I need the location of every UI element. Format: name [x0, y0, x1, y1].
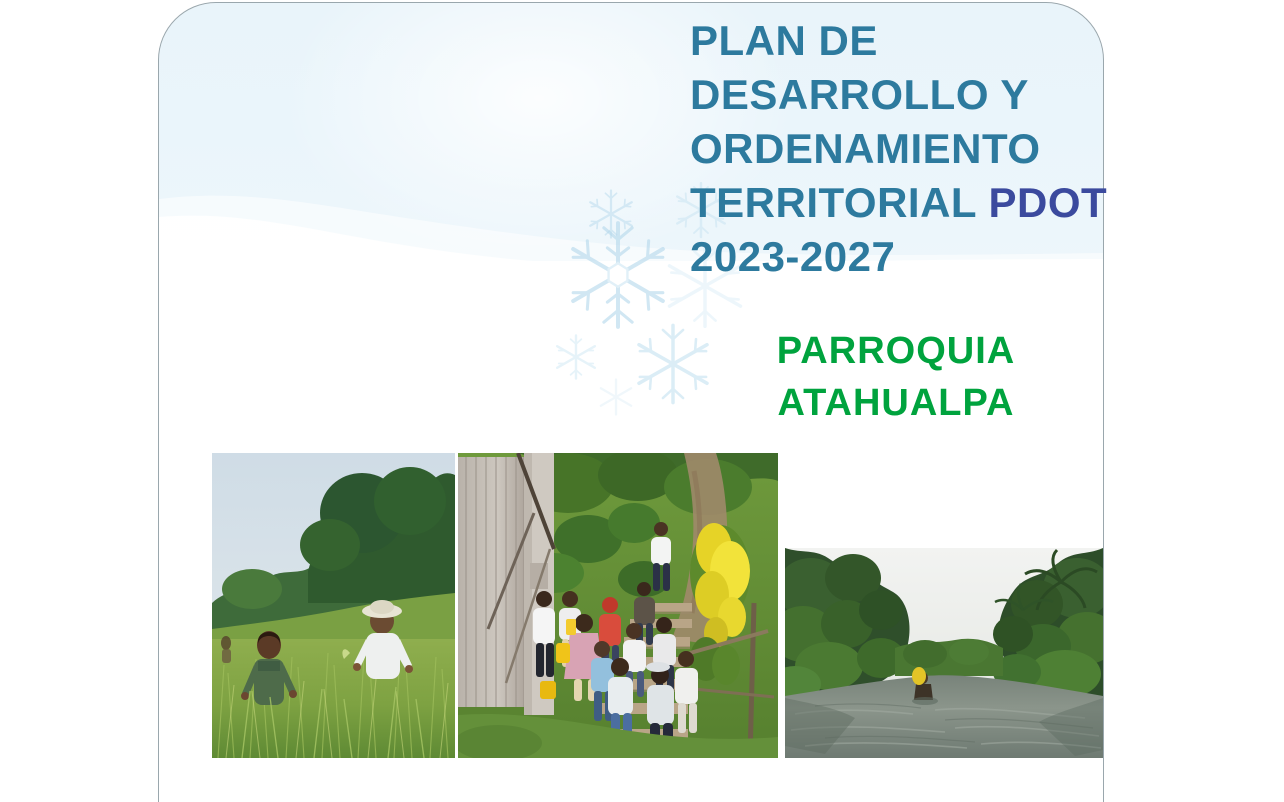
photo-river-with-vegetation [785, 548, 1103, 758]
document-title: PLAN DE DESARROLLO Y ORDENAMIENTO TERRIT… [690, 14, 1102, 284]
title-line-4: TERRITORIAL PDOT [690, 176, 1102, 230]
title-line-2: DESARROLLO Y [690, 68, 1102, 122]
title-territorial-text: TERRITORIAL [690, 179, 988, 226]
title-year-range: 2023-2027 [690, 230, 1102, 284]
subtitle-line-atahualpa: ATAHUALPA [690, 377, 1102, 429]
document-subtitle: PARROQUIA ATAHUALPA [690, 325, 1102, 429]
title-line-3: ORDENAMIENTO [690, 122, 1102, 176]
photo-community-gathering-stairs [458, 453, 778, 758]
subtitle-line-parroquia: PARROQUIA [690, 325, 1102, 377]
photo-farmers-in-rice-field [212, 453, 455, 758]
title-pdot-acronym: PDOT [988, 179, 1107, 226]
cover-page: PLAN DE DESARROLLO Y ORDENAMIENTO TERRIT… [0, 0, 1284, 758]
title-line-1: PLAN DE [690, 14, 1102, 68]
